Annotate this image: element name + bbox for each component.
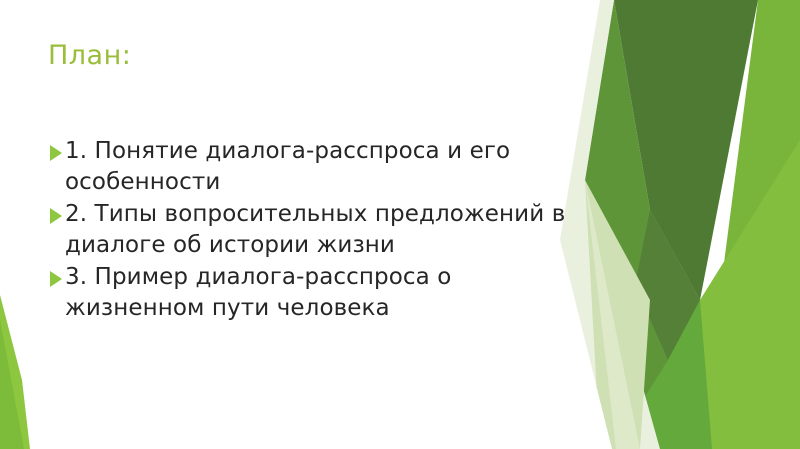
triangle-bullet-icon xyxy=(50,271,62,287)
list-item-label: 3. Пример диалога-расспроса о жизненном … xyxy=(65,262,595,323)
decor-shape-dark-mid xyxy=(635,210,700,360)
decor-shape-bright-right xyxy=(700,0,800,449)
page-title: План: xyxy=(48,40,131,71)
bullet-list: 1. Понятие диалога-расспроса и его особе… xyxy=(50,136,595,325)
triangle-bullet-icon xyxy=(50,208,62,224)
list-item: 2. Типы вопросительных предложений в диа… xyxy=(50,199,595,260)
decor-shape-mid-upper xyxy=(585,0,700,449)
list-item: 1. Понятие диалога-расспроса и его особе… xyxy=(50,136,595,197)
decor-shape-bright-right-lower xyxy=(612,140,800,449)
list-item-label: 2. Типы вопросительных предложений в диа… xyxy=(65,199,595,260)
triangle-bullet-icon xyxy=(50,145,62,161)
decor-shape-mid-lower xyxy=(612,300,712,449)
presentation-slide: План: 1. Понятие диалога-расспроса и его… xyxy=(0,0,800,449)
decor-shape-left-wedge xyxy=(0,295,30,449)
decor-shape-dark-top xyxy=(614,0,758,300)
list-item: 3. Пример диалога-расспроса о жизненном … xyxy=(50,262,595,323)
list-item-label: 1. Понятие диалога-расспроса и его особе… xyxy=(65,136,595,197)
decor-shape-left-wedge-inner xyxy=(0,320,24,449)
